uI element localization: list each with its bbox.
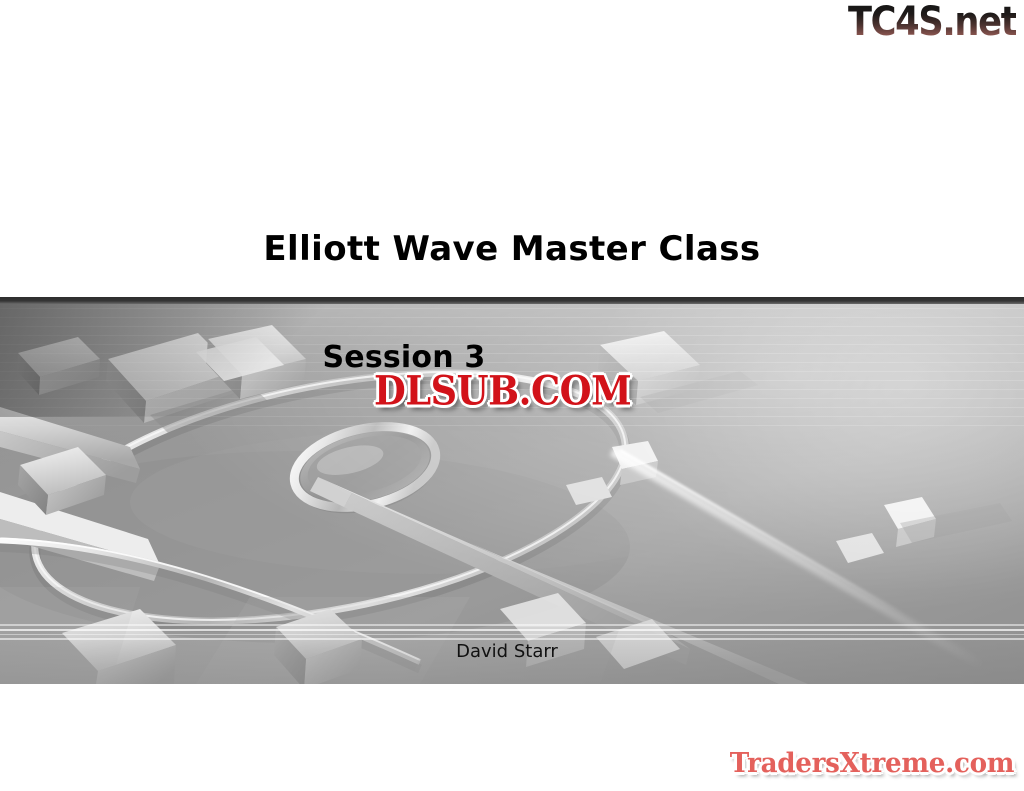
slide-title: Elliott Wave Master Class [0,231,1024,268]
presenter-name: David Starr [0,641,1024,662]
dlsub-watermark: DLSUB.COM [374,372,631,412]
tradersxtreme-watermark: TradersXtreme.com [730,750,1014,777]
tc4s-watermark: TC4S.net [848,2,1016,42]
presentation-slide: TC4S.net Elliott Wave Master Class [0,0,1024,791]
band-top-rule [0,297,1024,304]
